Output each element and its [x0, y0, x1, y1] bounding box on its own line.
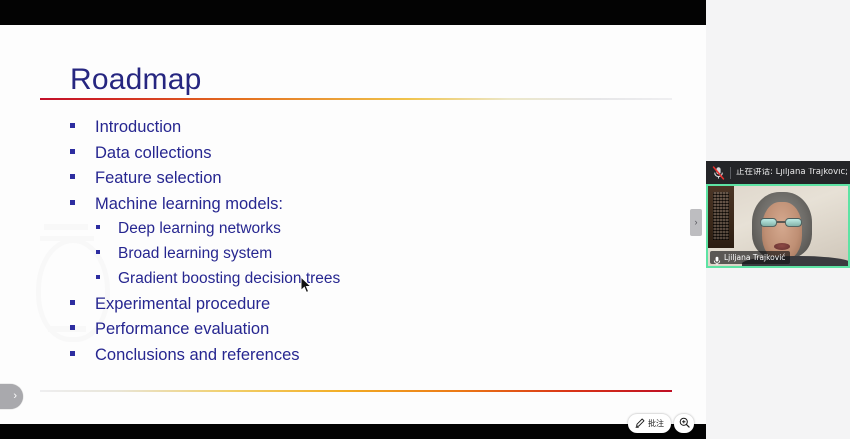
magnifier-plus-icon	[679, 417, 690, 430]
annotate-button-label: 批注	[648, 420, 664, 428]
toolbar-divider	[730, 167, 731, 179]
participant-video-panel: 正在讲话: Ljiljana Trajkovic;	[706, 161, 850, 268]
list-item: Data collections	[70, 145, 670, 171]
bullet-square-icon	[70, 300, 75, 305]
list-item-label: Deep learning networks	[118, 221, 281, 237]
slide-title: Roadmap	[70, 65, 201, 95]
list-item-label: Experimental procedure	[95, 296, 270, 313]
list-item-label: Conclusions and references	[95, 347, 300, 364]
list-item: Machine learning models:	[70, 196, 670, 222]
list-item: Feature selection	[70, 170, 670, 196]
bullet-square-icon	[70, 351, 75, 356]
list-item: Conclusions and references	[70, 347, 670, 373]
video-panel-collapse-handle[interactable]: ›	[690, 209, 702, 236]
bullet-square-icon	[96, 250, 100, 254]
chevron-right-icon: ›	[695, 218, 698, 227]
video-tile[interactable]: Ljiljana Trajković	[706, 184, 850, 268]
list-item: Deep learning networks	[70, 221, 670, 246]
bullet-square-icon	[70, 149, 75, 154]
list-item-label: Performance evaluation	[95, 321, 269, 338]
list-item-label: Introduction	[95, 119, 181, 136]
list-item-label: Machine learning models:	[95, 196, 283, 213]
presentation-slide: Roadmap Introduction Data collections Fe…	[0, 25, 706, 424]
list-item-label: Broad learning system	[118, 246, 272, 262]
footer-divider-rule	[40, 390, 672, 392]
list-item: Performance evaluation	[70, 321, 670, 347]
list-item: Experimental procedure	[70, 296, 670, 322]
list-item-label: Gradient boosting decision trees	[118, 271, 340, 287]
list-item-label: Data collections	[95, 145, 211, 162]
participant-name-tag: Ljiljana Trajković	[710, 251, 790, 264]
mic-off-icon[interactable]	[712, 166, 725, 180]
letterbox-top	[0, 0, 706, 25]
title-divider-rule	[40, 98, 672, 100]
letterbox-bottom	[0, 424, 706, 439]
pen-icon	[635, 418, 645, 430]
list-item: Gradient boosting decision trees	[70, 271, 670, 296]
bullet-square-icon	[96, 225, 100, 229]
list-item-label: Feature selection	[95, 170, 222, 187]
bullet-square-icon	[70, 200, 75, 205]
chevron-right-icon: ›	[13, 391, 17, 402]
bullet-square-icon	[70, 174, 75, 179]
annotation-toolbar: 批注	[628, 414, 694, 433]
zoom-meeting-screen: Roadmap Introduction Data collections Fe…	[0, 0, 850, 439]
slide-bullet-list: Introduction Data collections Feature se…	[70, 119, 670, 373]
active-speaker-bar: 正在讲话: Ljiljana Trajkovic;	[706, 161, 850, 184]
active-speaker-label: 正在讲话: Ljiljana Trajkovic;	[736, 168, 848, 177]
zoom-in-button[interactable]	[674, 414, 694, 433]
annotate-button[interactable]: 批注	[628, 414, 671, 433]
shared-screen-region: Roadmap Introduction Data collections Fe…	[0, 0, 706, 439]
bullet-square-icon	[70, 123, 75, 128]
list-item: Introduction	[70, 119, 670, 145]
bullet-square-icon	[70, 325, 75, 330]
list-item: Broad learning system	[70, 246, 670, 271]
participant-name-label: Ljiljana Trajković	[724, 254, 785, 262]
mic-icon	[713, 253, 721, 263]
bullet-square-icon	[96, 275, 100, 279]
